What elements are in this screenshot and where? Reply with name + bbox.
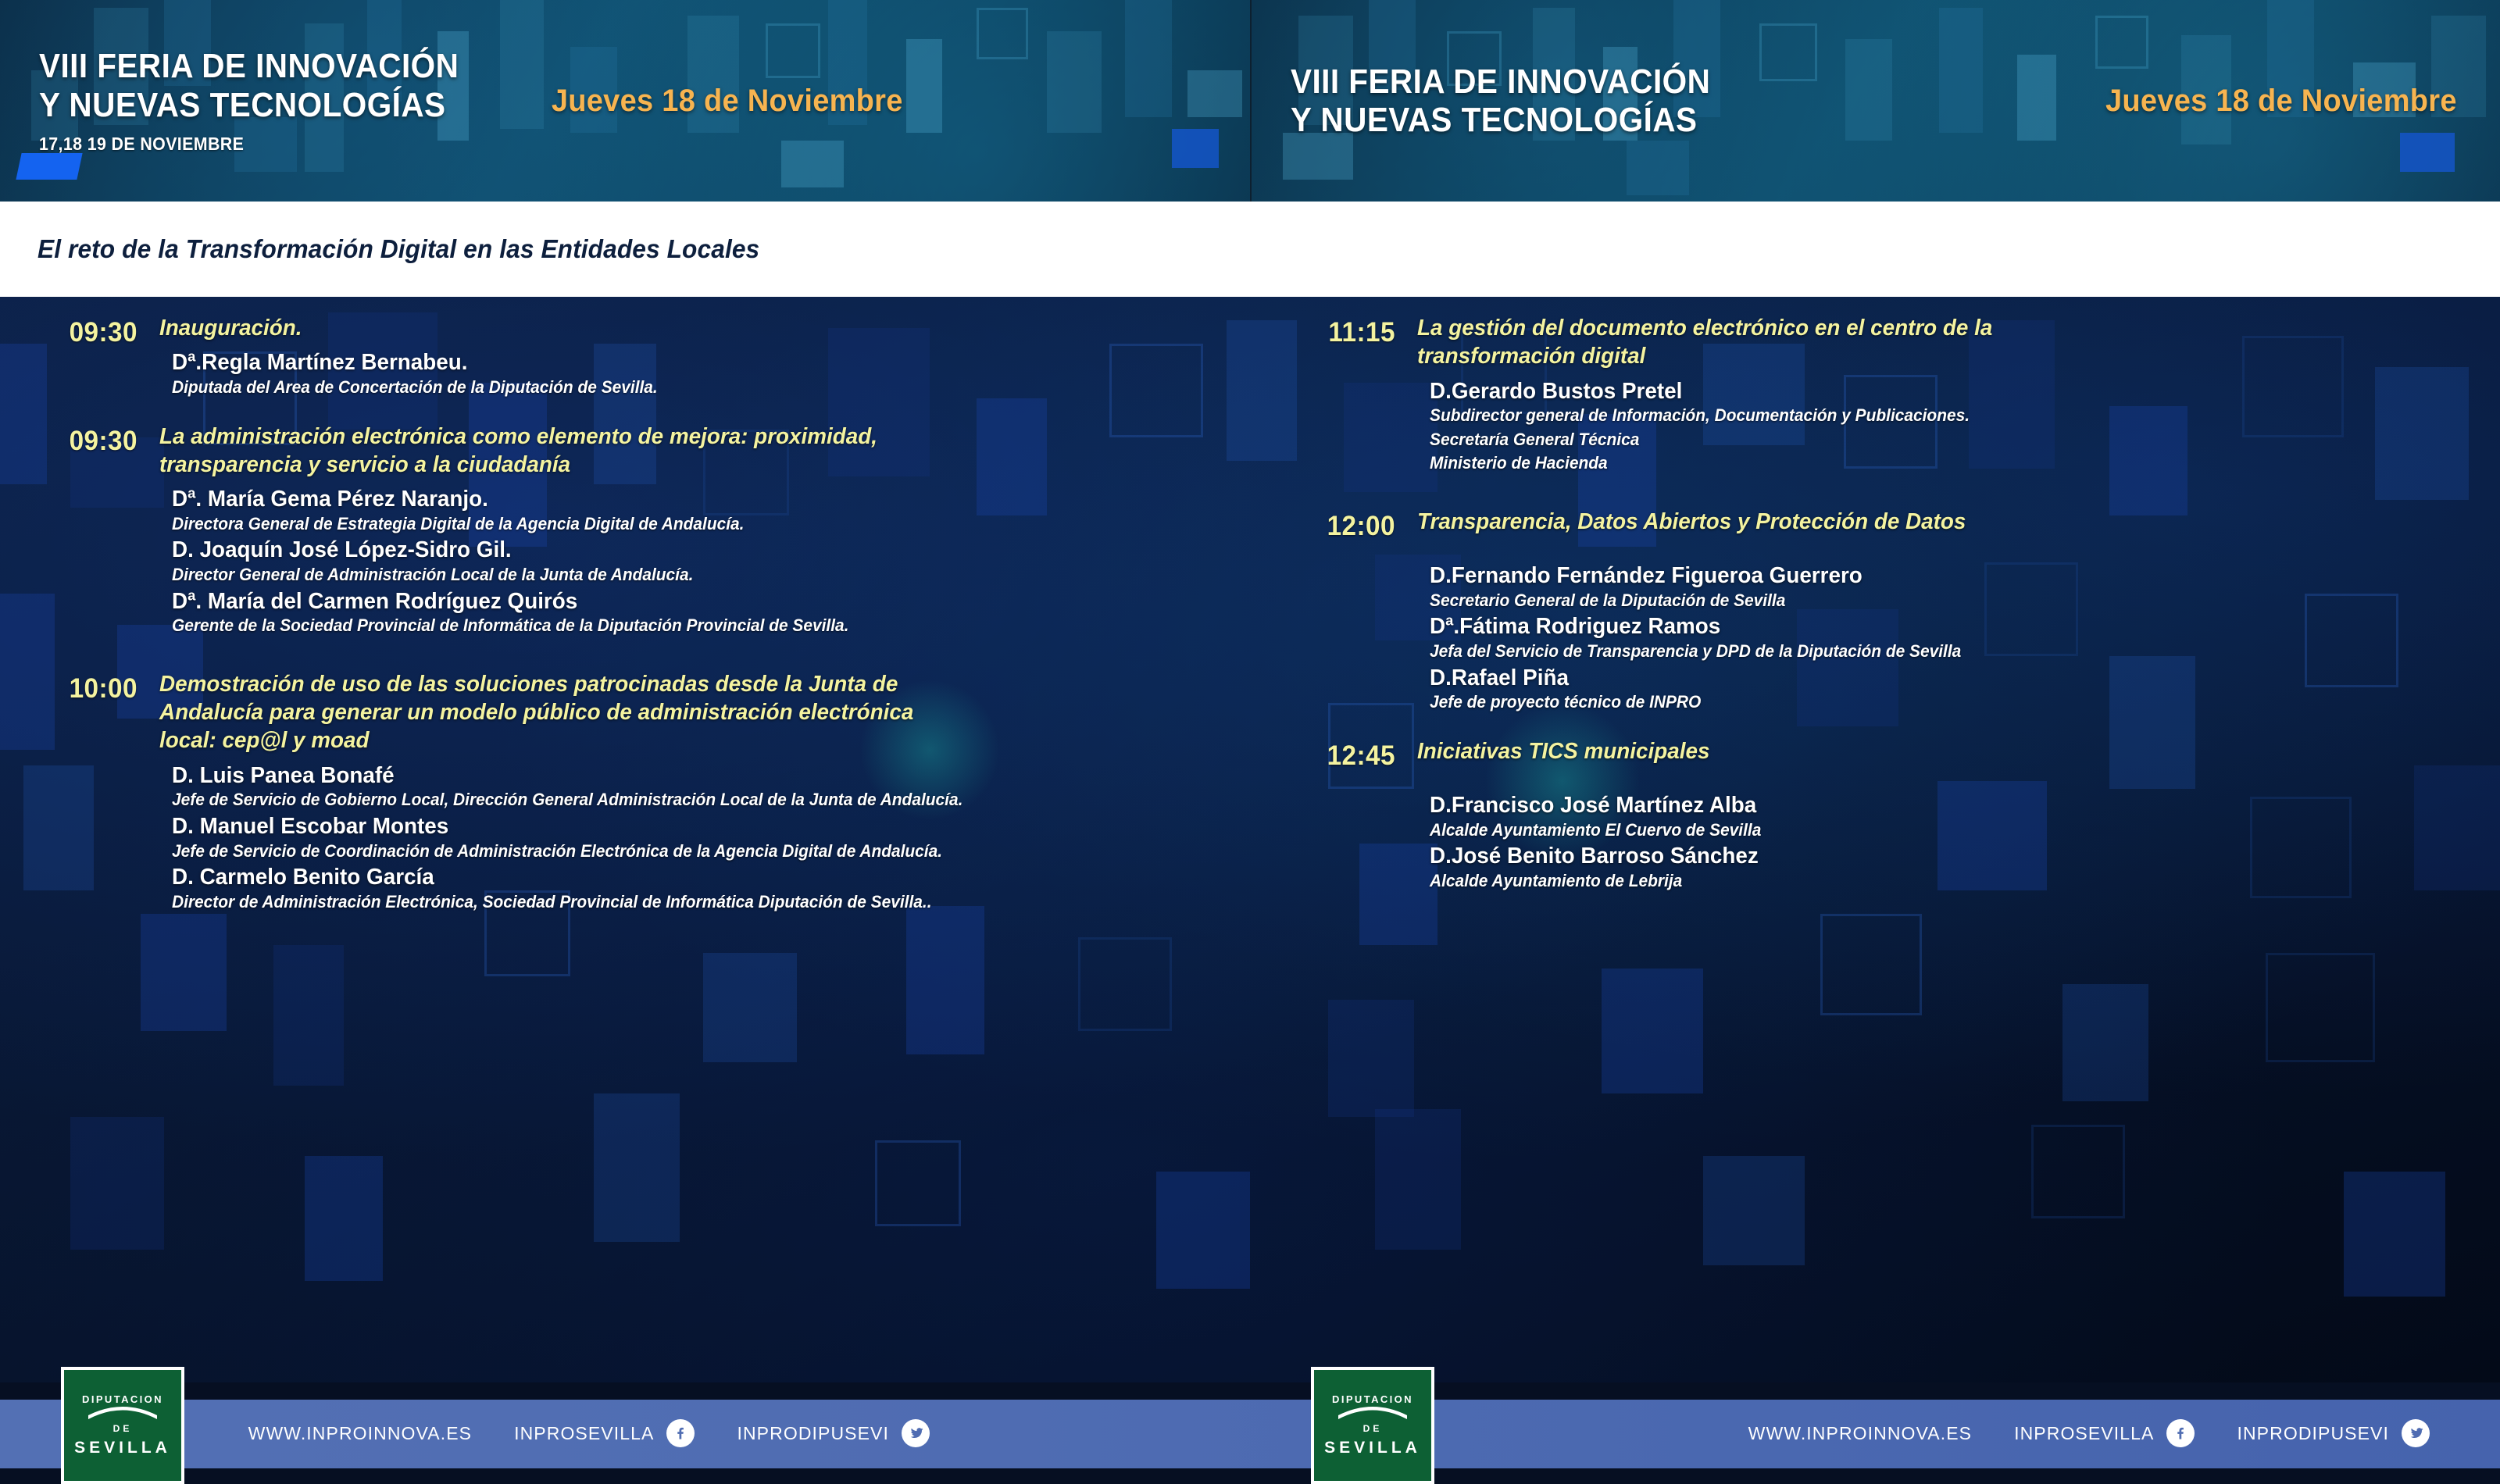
speaker-list: D.Fernando Fernández Figueroa Guerrero S… bbox=[1417, 562, 1989, 713]
footer-area: DIPUTACION DE SEVILLA WWW.INPROINNOVA.ES… bbox=[0, 1382, 2500, 1484]
twitter-icon[interactable] bbox=[2402, 1419, 2430, 1447]
subtitle-text: El reto de la Transformación Digital en … bbox=[37, 234, 759, 264]
fair-title-line2: Y NUEVAS TECNOLOGÍAS bbox=[39, 86, 459, 124]
speaker-role: Directora General de Estrategia Digital … bbox=[172, 513, 870, 535]
speaker-name: D. Carmelo Benito García bbox=[172, 864, 971, 891]
facebook-icon[interactable] bbox=[2166, 1419, 2195, 1447]
header-banners: VIII FERIA DE INNOVACIÓN Y NUEVAS TECNOL… bbox=[0, 0, 2500, 202]
facebook-label: INPROSEVILLA bbox=[514, 1423, 654, 1444]
footer-links-left: WWW.INPROINNOVA.ES INPROSEVILLA INPRODIP… bbox=[248, 1419, 1250, 1447]
footer-links-right: WWW.INPROINNOVA.ES INPROSEVILLA INPRODIP… bbox=[1748, 1419, 2500, 1447]
website-label: WWW.INPROINNOVA.ES bbox=[1748, 1423, 1972, 1444]
speaker-name: Dª. María Gema Pérez Naranjo. bbox=[172, 486, 878, 513]
speaker-name: D.Fernando Fernández Figueroa Guerrero bbox=[1430, 562, 1966, 590]
speaker-role: Director General de Administración Local… bbox=[172, 564, 870, 586]
banner-right-title-block: VIII FERIA DE INNOVACIÓN Y NUEVAS TECNOL… bbox=[1252, 62, 1747, 140]
subtitle-bar: El reto de la Transformación Digital en … bbox=[0, 202, 2500, 297]
logo-top-text: DIPUTACION bbox=[82, 1393, 163, 1405]
logo-top-text: DIPUTACION bbox=[1332, 1393, 1413, 1405]
session-title-line1: Demostración de uso de las soluciones pa… bbox=[159, 670, 970, 698]
diputacion-sevilla-logo: DIPUTACION DE SEVILLA bbox=[61, 1367, 184, 1484]
website-link[interactable]: WWW.INPROINNOVA.ES bbox=[248, 1423, 472, 1444]
session-1115-gestion-documento: 11:15 La gestión del documento electróni… bbox=[1250, 314, 2500, 476]
fair-title-line1-right: VIII FERIA DE INNOVACIÓN bbox=[1291, 62, 1710, 101]
session-time: 09:30 bbox=[19, 314, 137, 401]
logo-bottom-text: SEVILLA bbox=[1324, 1439, 1421, 1457]
twitter-icon[interactable] bbox=[902, 1419, 930, 1447]
speaker-role: Jefa del Servicio de Transparencia y DPD… bbox=[1430, 640, 1961, 662]
session-1200-transparencia: 12:00 Transparencia, Datos Abiertos y Pr… bbox=[1250, 508, 2500, 715]
session-time: 10:00 bbox=[19, 670, 137, 915]
speaker-list: D.Gerardo Bustos Pretel Subdirector gene… bbox=[1417, 378, 2016, 474]
speaker-role-2: Secretaría General Técnica bbox=[1430, 429, 1987, 451]
speaker-list: D.Francisco José Martínez Alba Alcalde A… bbox=[1417, 792, 1779, 892]
speaker-name: D.José Benito Barroso Sánchez bbox=[1430, 843, 1765, 870]
facebook-link[interactable]: INPROSEVILLA bbox=[514, 1419, 695, 1447]
speaker-role: Jefe de proyecto técnico de INPRO bbox=[1430, 691, 1961, 713]
session-title-line2: transformación digital bbox=[1417, 342, 1992, 370]
logo-bottom-text: SEVILLA bbox=[74, 1439, 171, 1457]
speaker-name: Dª.Fátima Rodriguez Ramos bbox=[1430, 613, 1966, 640]
twitter-link[interactable]: INPRODIPUSEVI bbox=[737, 1419, 930, 1447]
session-title-line1: La gestión del documento electrónico en … bbox=[1417, 314, 1992, 342]
speaker-list: Dª. María Gema Pérez Naranjo. Directora … bbox=[159, 486, 907, 637]
footer-right: DIPUTACION DE SEVILLA WWW.INPROINNOVA.ES… bbox=[1250, 1382, 2500, 1484]
session-title-line1: La administración electrónica como eleme… bbox=[159, 423, 877, 451]
logo-middle-text: DE bbox=[1363, 1423, 1383, 1434]
speaker-role: Secretario General de la Diputación de S… bbox=[1430, 590, 1961, 612]
speaker-role-3: Ministerio de Hacienda bbox=[1430, 452, 1987, 474]
speaker-name: D.Rafael Piña bbox=[1430, 665, 1966, 692]
speaker-role: Jefe de Servicio de Gobierno Local, Dire… bbox=[172, 789, 962, 811]
fair-title-line1: VIII FERIA DE INNOVACIÓN bbox=[39, 47, 459, 85]
session-time: 12:45 bbox=[1277, 737, 1395, 894]
speaker-role: Subdirector general de Información, Docu… bbox=[1430, 405, 1987, 426]
speaker-role: Alcalde Ayuntamiento El Cuervo de Sevill… bbox=[1430, 819, 1761, 841]
speaker-role: Alcalde Ayuntamiento de Lebrija bbox=[1430, 870, 1761, 892]
session-title: Iniciativas TICS municipales bbox=[1417, 737, 1764, 765]
session-0930-administracion: 09:30 La administración electrónica como… bbox=[0, 423, 1250, 639]
fair-title-line2-right: Y NUEVAS TECNOLOGÍAS bbox=[1291, 101, 1710, 139]
session-title-line3: local: cep@l y moad bbox=[159, 726, 970, 754]
speaker-role: Director de Administración Electrónica, … bbox=[172, 891, 962, 913]
facebook-link[interactable]: INPROSEVILLA bbox=[2014, 1419, 2195, 1447]
session-time: 11:15 bbox=[1277, 314, 1395, 476]
speaker-name: D.Francisco José Martínez Alba bbox=[1430, 792, 1765, 819]
left-column: 09:30 Inauguración. Dª.Regla Martínez Be… bbox=[0, 297, 1250, 1382]
twitter-link[interactable]: INPRODIPUSEVI bbox=[2237, 1419, 2430, 1447]
date-tab-shape bbox=[16, 153, 82, 180]
program-area: 09:30 Inauguración. Dª.Regla Martínez Be… bbox=[0, 297, 2500, 1382]
right-column: 11:15 La gestión del documento electróni… bbox=[1250, 297, 2500, 1382]
diputacion-sevilla-logo-right: DIPUTACION DE SEVILLA bbox=[1311, 1367, 1434, 1484]
speaker-list: Dª.Regla Martínez Bernabeu. Diputada del… bbox=[159, 349, 683, 398]
speaker-name: Dª.Regla Martínez Bernabeu. bbox=[172, 349, 662, 376]
session-time: 12:00 bbox=[1277, 508, 1395, 715]
speaker-role: Diputada del Area de Concertación de la … bbox=[172, 376, 658, 398]
website-link[interactable]: WWW.INPROINNOVA.ES bbox=[1748, 1423, 1972, 1444]
banner-right: VIII FERIA DE INNOVACIÓN Y NUEVAS TECNOL… bbox=[1250, 0, 2500, 202]
footer-left: DIPUTACION DE SEVILLA WWW.INPROINNOVA.ES… bbox=[0, 1382, 1250, 1484]
banner-left-title-block: VIII FERIA DE INNOVACIÓN Y NUEVAS TECNOL… bbox=[0, 47, 495, 155]
speaker-name: D. Luis Panea Bonafé bbox=[172, 762, 971, 790]
session-1245-iniciativas-tics: 12:45 Iniciativas TICS municipales D.Fra… bbox=[1250, 737, 2500, 894]
twitter-label: INPRODIPUSEVI bbox=[737, 1423, 889, 1444]
logo-middle-text: DE bbox=[113, 1423, 133, 1434]
website-label: WWW.INPROINNOVA.ES bbox=[248, 1423, 472, 1444]
speaker-name: D. Joaquín José López-Sidro Gil. bbox=[172, 537, 878, 564]
speaker-name: Dª. María del Carmen Rodríguez Quirós bbox=[172, 588, 878, 615]
fair-dates: 17,18 19 DE NOVIEMBRE bbox=[39, 134, 463, 155]
banner-left-day: Jueves 18 de Noviembre bbox=[552, 84, 903, 119]
facebook-label: INPROSEVILLA bbox=[2014, 1423, 2154, 1444]
banner-right-day: Jueves 18 de Noviembre bbox=[2105, 84, 2490, 119]
logo-arc-icon bbox=[85, 1404, 160, 1420]
logo-arc-icon bbox=[1335, 1404, 1410, 1420]
speaker-name: D.Gerardo Bustos Pretel bbox=[1430, 378, 1993, 405]
twitter-label: INPRODIPUSEVI bbox=[2237, 1423, 2389, 1444]
speaker-role: Jefe de Servicio de Coordinación de Admi… bbox=[172, 840, 962, 862]
session-title: Inauguración. bbox=[159, 314, 662, 342]
speaker-list: D. Luis Panea Bonafé Jefe de Servicio de… bbox=[159, 762, 1005, 913]
session-title: Transparencia, Datos Abiertos y Protecci… bbox=[1417, 508, 1966, 536]
facebook-icon[interactable] bbox=[666, 1419, 695, 1447]
session-time: 09:30 bbox=[19, 423, 137, 639]
session-title-line2: transparencia y servicio a la ciudadanía bbox=[159, 451, 877, 479]
speaker-name: D. Manuel Escobar Montes bbox=[172, 813, 971, 840]
banner-left: VIII FERIA DE INNOVACIÓN Y NUEVAS TECNOL… bbox=[0, 0, 1250, 202]
speaker-role: Gerente de la Sociedad Provincial de Inf… bbox=[172, 615, 870, 637]
session-1000-demostracion: 10:00 Demostración de uso de las solucio… bbox=[0, 670, 1250, 915]
session-0930-inauguracion: 09:30 Inauguración. Dª.Regla Martínez Be… bbox=[0, 314, 1250, 401]
session-title-line2: Andalucía para generar un modelo público… bbox=[159, 698, 970, 726]
